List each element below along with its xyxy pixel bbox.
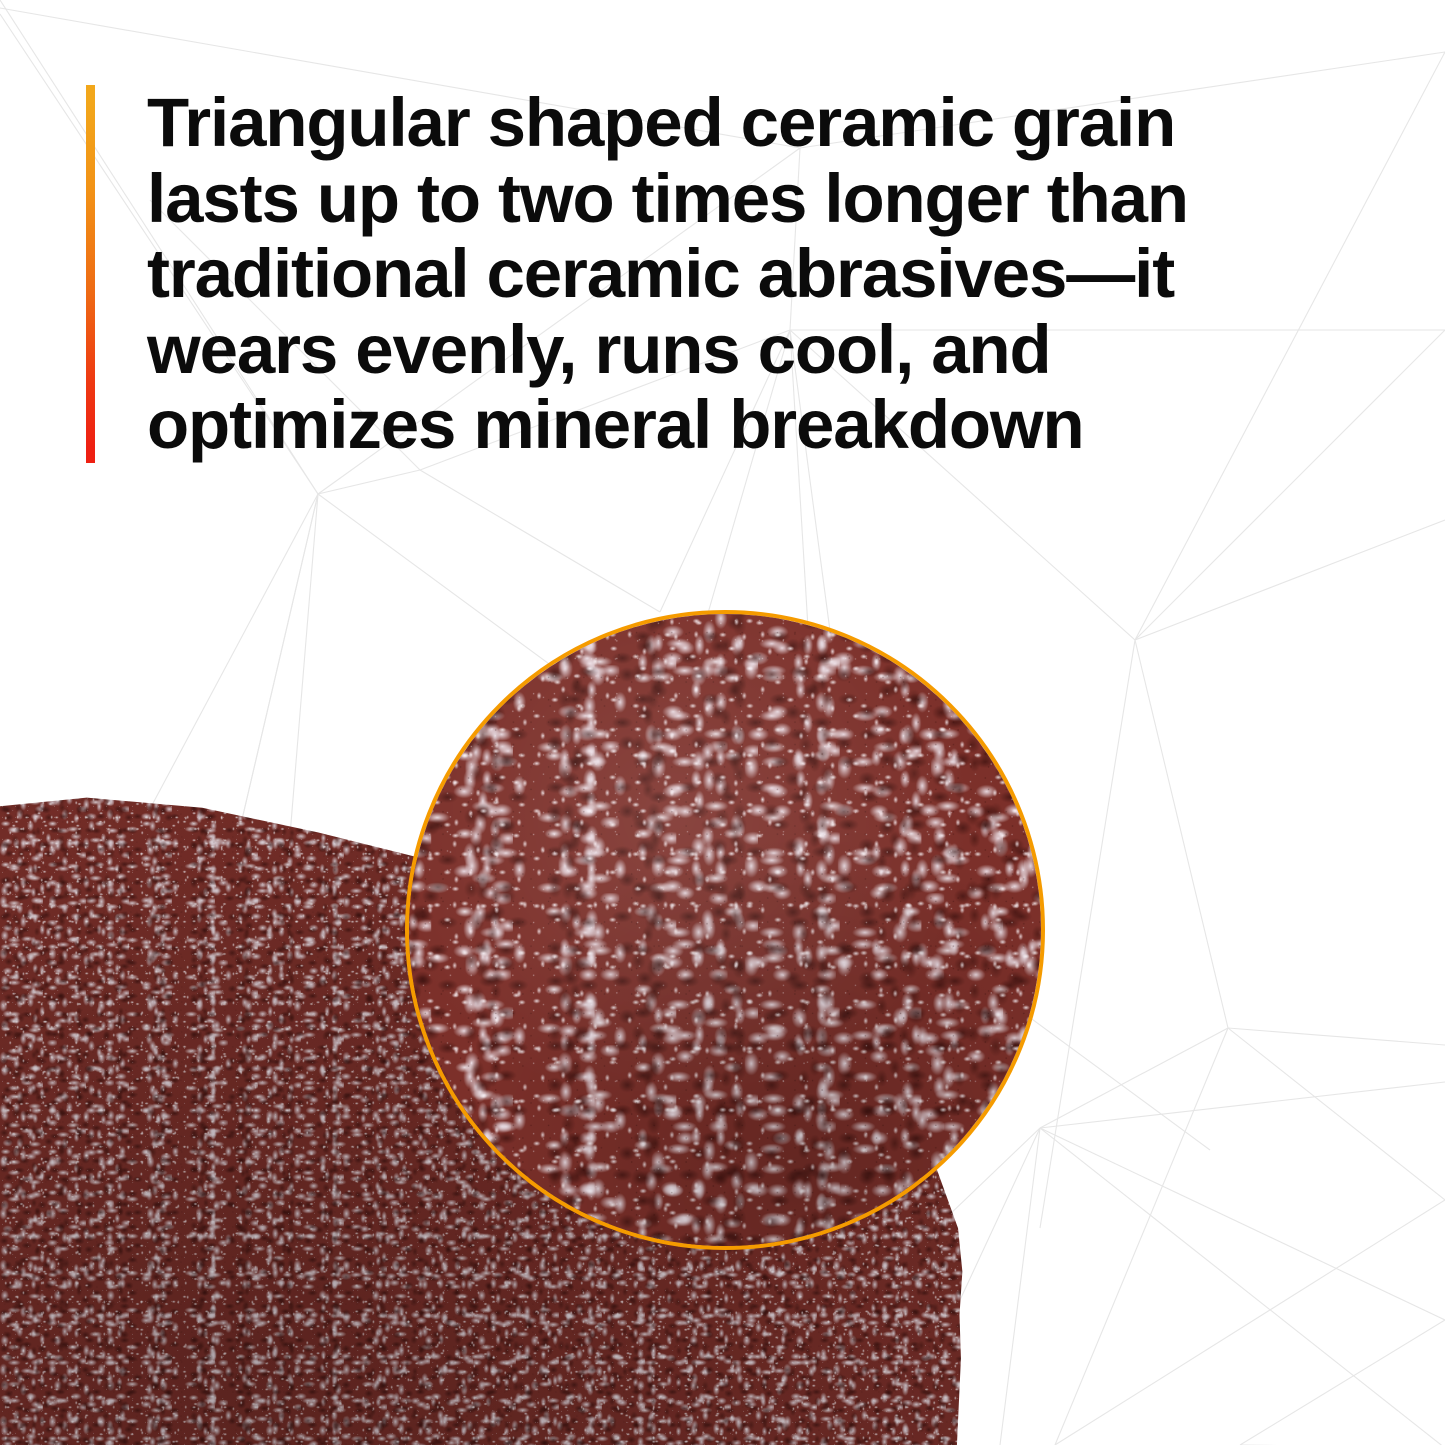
- promo-graphic-canvas: Triangular shaped ceramic grain lasts up…: [0, 0, 1445, 1445]
- headline-block: Triangular shaped ceramic grain lasts up…: [86, 85, 1336, 463]
- accent-gradient-bar: [86, 85, 95, 463]
- page-title: Triangular shaped ceramic grain lasts up…: [147, 85, 1336, 463]
- product-image-caption: ceramic abrasive fibre disc close-up: [0, 0, 1, 1]
- magnifier-circle: [405, 610, 1045, 1250]
- magnifier-texture: [405, 610, 1045, 1250]
- mag-shading: [405, 610, 1045, 1250]
